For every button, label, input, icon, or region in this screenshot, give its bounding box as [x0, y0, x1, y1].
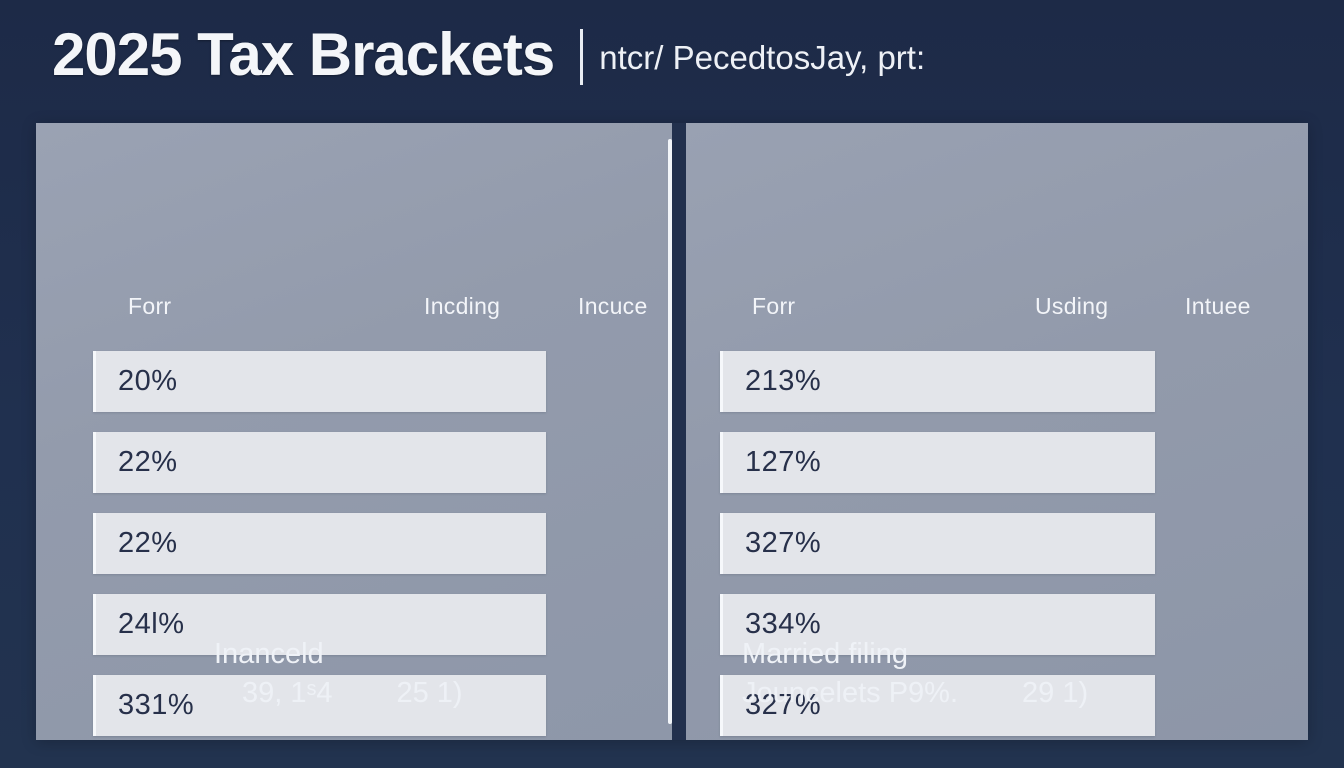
- table-row[interactable]: 22%: [93, 513, 546, 574]
- panel-divider-line: [668, 139, 672, 724]
- row-value: 331%: [118, 691, 194, 720]
- row-value: 213%: [745, 367, 821, 396]
- right-footer-detail: Jouncelets P9%. 29 1): [742, 674, 1088, 712]
- table-row[interactable]: 22%: [93, 432, 546, 493]
- panel-single-filer: Forr Incding Incuce 20% 22% 22% 24l% 3: [36, 123, 672, 740]
- page-root: 2025 Tax Brackets ntcr/ PecedtosJay, prt…: [0, 0, 1344, 768]
- left-column-headers: Forr Incding Incuce: [36, 293, 672, 333]
- left-col-header-1: Incding: [424, 293, 500, 320]
- row-value: 22%: [118, 529, 178, 558]
- page-title: 2025 Tax Brackets: [52, 25, 554, 85]
- row-value: 20%: [118, 367, 178, 396]
- right-footer-amount-b: 29 1): [1022, 674, 1088, 712]
- right-footer-title: Married filing: [742, 635, 1088, 673]
- page-subtitle: ntcr/ PecedtosJay, prt:: [599, 41, 925, 74]
- right-col-header-0: Forr: [752, 293, 795, 320]
- right-column-headers: Forr Usding Intuee: [686, 293, 1308, 333]
- left-footer-detail: 39, 1ˢ4 25 1): [214, 674, 463, 712]
- right-col-header-2: Intuee: [1185, 293, 1251, 320]
- right-footer-amount-a: Jouncelets P9%.: [742, 674, 958, 712]
- panel-gap: [672, 123, 686, 740]
- row-value: 327%: [745, 529, 821, 558]
- brackets-card: Forr Incding Incuce 20% 22% 22% 24l% 3: [36, 123, 1308, 740]
- table-row[interactable]: 20%: [93, 351, 546, 412]
- table-row[interactable]: 213%: [720, 351, 1155, 412]
- table-row[interactable]: 127%: [720, 432, 1155, 493]
- row-value: 24l%: [118, 610, 185, 639]
- title-divider: [580, 29, 583, 85]
- left-panel-footer: Inanceld 39, 1ˢ4 25 1): [214, 635, 463, 712]
- left-col-header-2: Incuce: [578, 293, 648, 320]
- left-col-header-0: Forr: [128, 293, 171, 320]
- row-value: 127%: [745, 448, 821, 477]
- left-footer-amount-b: 25 1): [396, 674, 462, 712]
- left-footer-amount-a: 39, 1ˢ4: [242, 674, 332, 712]
- right-col-header-1: Usding: [1035, 293, 1108, 320]
- right-panel-footer: Married filing Jouncelets P9%. 29 1): [742, 635, 1088, 712]
- panel-married-filing: Forr Usding Intuee 213% 127% 327% 334%: [686, 123, 1308, 740]
- page-header: 2025 Tax Brackets ntcr/ PecedtosJay, prt…: [0, 0, 1344, 110]
- table-row[interactable]: 327%: [720, 513, 1155, 574]
- left-footer-title: Inanceld: [214, 635, 463, 673]
- row-value: 22%: [118, 448, 178, 477]
